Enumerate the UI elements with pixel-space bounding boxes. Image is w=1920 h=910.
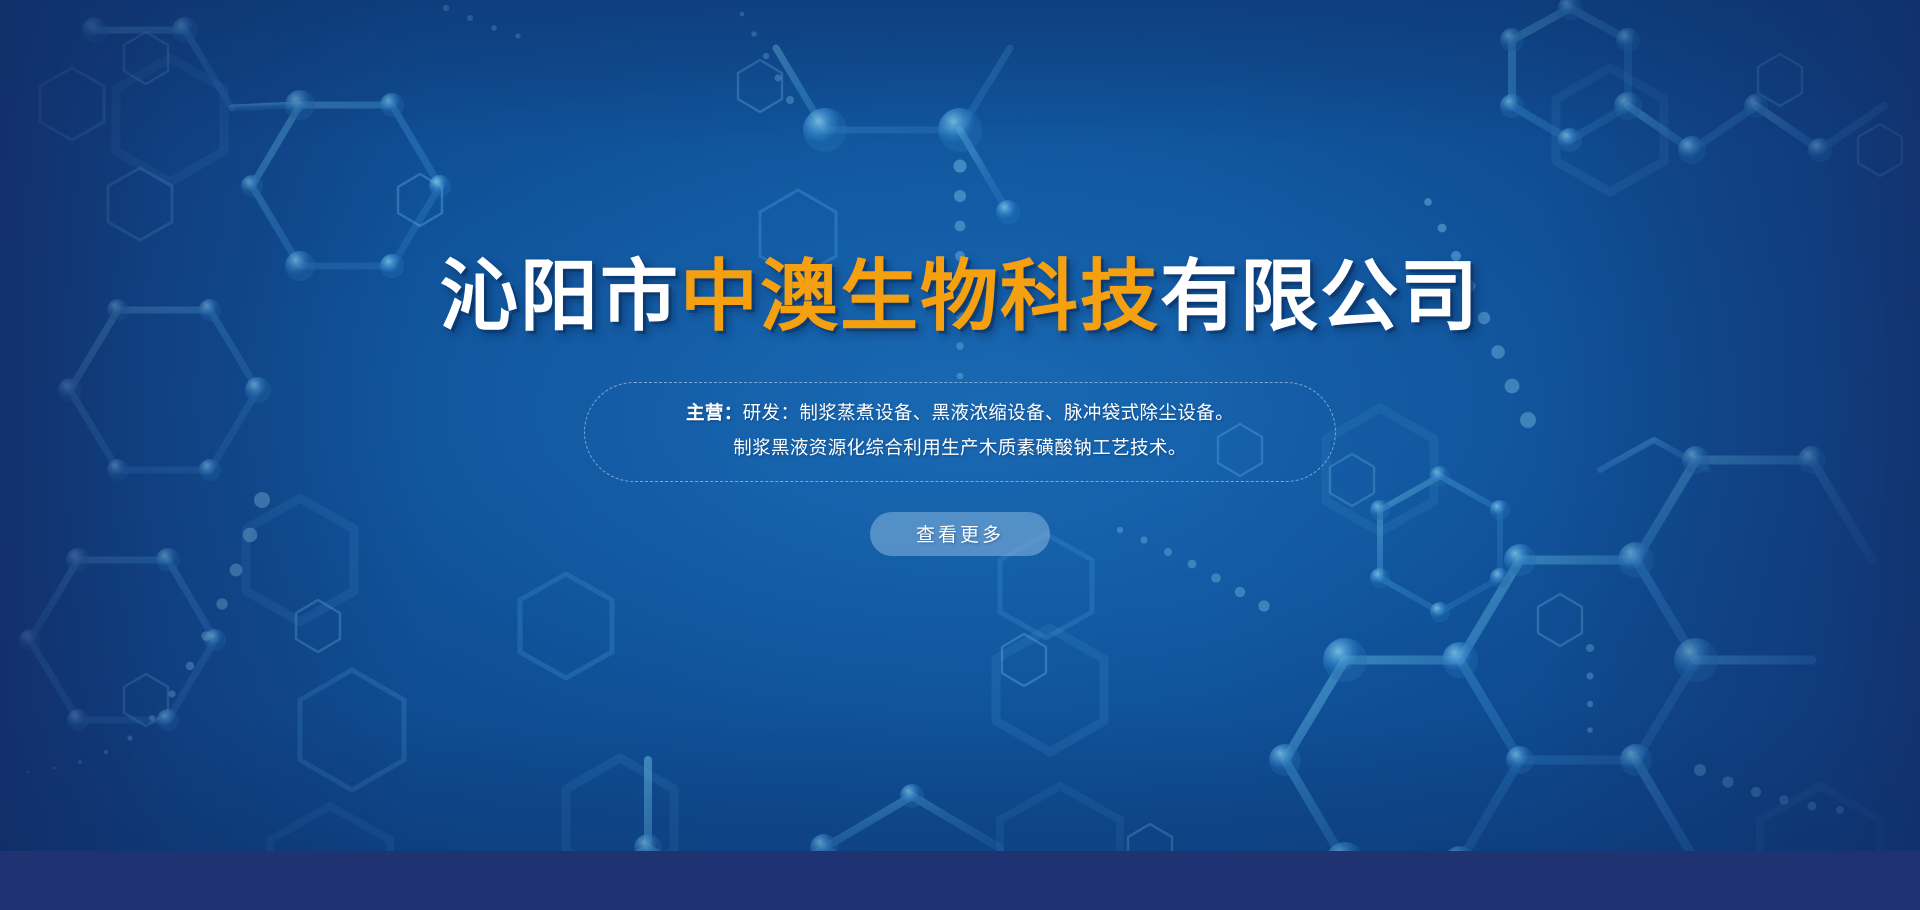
title-accent: 中澳生物科技	[680, 252, 1160, 340]
tagline-line-1-text: 研发：制浆蒸煮设备、黑液浓缩设备、脉冲袋式除尘设备。	[743, 402, 1234, 423]
tagline-line-1: 主营：研发：制浆蒸煮设备、黑液浓缩设备、脉冲袋式除尘设备。	[686, 401, 1234, 426]
title-prefix: 沁阳市	[440, 252, 680, 340]
view-more-button[interactable]: 查看更多	[870, 512, 1050, 556]
tagline-lead: 主营：	[686, 402, 743, 423]
hero-content: 沁阳市中澳生物科技有限公司 主营：研发：制浆蒸煮设备、黑液浓缩设备、脉冲袋式除尘…	[0, 0, 1920, 851]
title-suffix: 有限公司	[1160, 252, 1480, 340]
page-title: 沁阳市中澳生物科技有限公司	[440, 255, 1480, 338]
bottom-navy-bar	[0, 851, 1920, 910]
hero-banner: 沁阳市中澳生物科技有限公司 主营：研发：制浆蒸煮设备、黑液浓缩设备、脉冲袋式除尘…	[0, 0, 1920, 910]
tagline-line-2: 制浆黑液资源化综合利用生产木质素磺酸钠工艺技术。	[733, 436, 1187, 461]
tagline-box: 主营：研发：制浆蒸煮设备、黑液浓缩设备、脉冲袋式除尘设备。 制浆黑液资源化综合利…	[584, 382, 1336, 482]
